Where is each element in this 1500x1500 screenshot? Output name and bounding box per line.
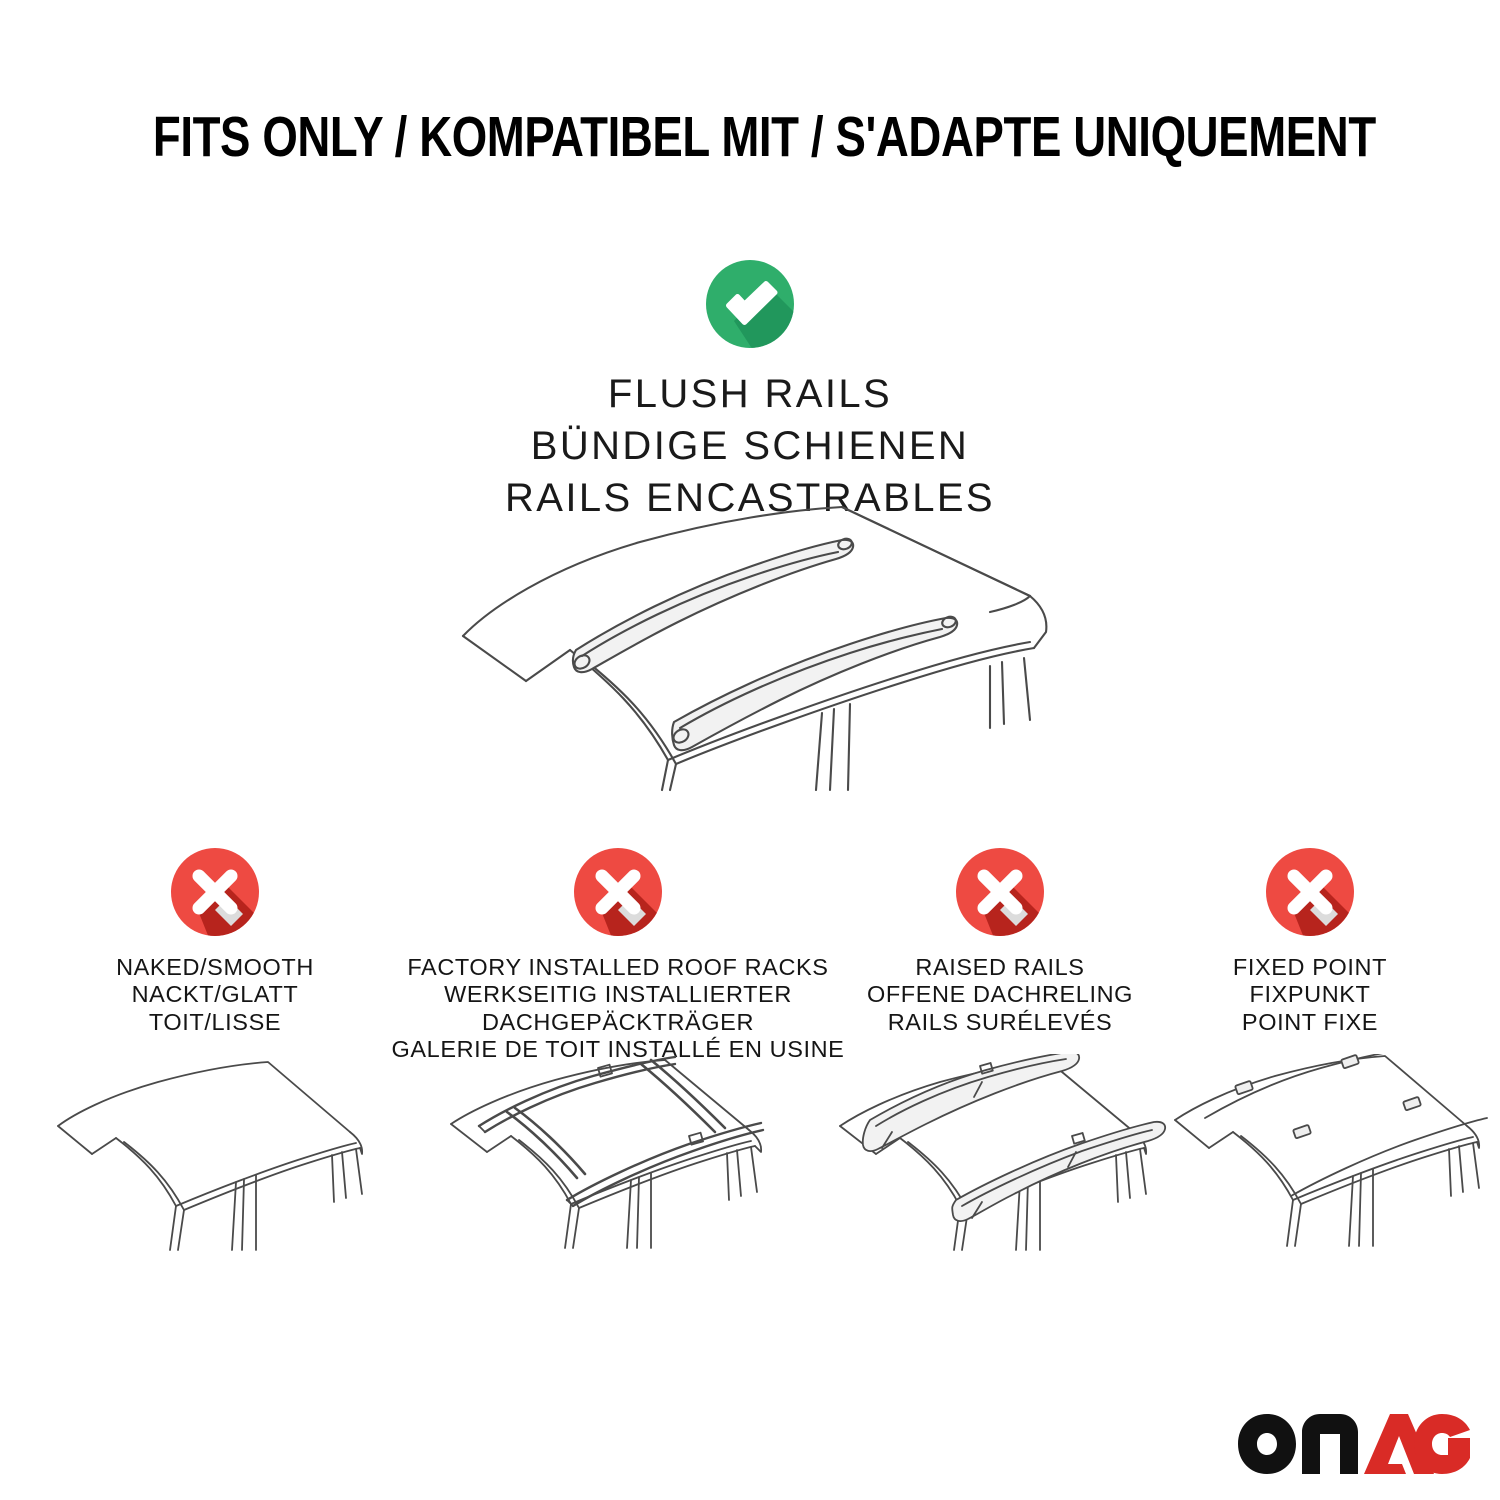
car-roof-naked-illustration <box>45 1054 385 1274</box>
label-line-de: FIXPUNKT <box>1165 981 1455 1008</box>
label-line-en: RAISED RAILS <box>830 954 1170 981</box>
cross-circle-icon <box>1264 846 1356 938</box>
incompatible-label-factory-roof-racks: FACTORY INSTALLED ROOF RACKS WERKSEITIG … <box>390 954 846 1063</box>
cross-circle-icon <box>954 846 1046 938</box>
incompatible-label-fixed-point: FIXED POINT FIXPUNKT POINT FIXE <box>1165 954 1455 1036</box>
cross-circle-icon <box>169 846 261 938</box>
label-line-fr: POINT FIXE <box>1165 1009 1455 1036</box>
label-line-de: NACKT/GLATT <box>45 981 385 1008</box>
infographic-page: FITS ONLY / KOMPATIBEL MIT / S'ADAPTE UN… <box>0 0 1500 1500</box>
cross-circle-icon <box>572 846 664 938</box>
compatible-section: FLUSH RAILS BÜNDIGE SCHIENEN RAILS ENCAS… <box>0 258 1500 524</box>
label-line-fr: RAILS SURÉLEVÉS <box>830 1009 1170 1036</box>
label-line-de: OFFENE DACHRELING <box>830 981 1170 1008</box>
cross-badge-wrap <box>45 846 385 946</box>
car-roof-fixed-point-illustration <box>1165 1054 1455 1274</box>
incompatible-column-naked-smooth: NAKED/SMOOTH NACKT/GLATT TOIT/LISSE <box>45 846 385 1036</box>
label-line-fr: TOIT/LISSE <box>45 1009 385 1036</box>
label-line-de-1: WERKSEITIG INSTALLIERTER <box>390 981 846 1008</box>
incompatible-label-naked-smooth: NAKED/SMOOTH NACKT/GLATT TOIT/LISSE <box>45 954 385 1036</box>
car-roof-with-flush-rails-illustration <box>430 498 1070 798</box>
incompatible-column-raised-rails: RAISED RAILS OFFENE DACHRELING RAILS SUR… <box>830 846 1170 1036</box>
label-line-en: NAKED/SMOOTH <box>45 954 385 981</box>
cross-badge-wrap <box>1165 846 1455 946</box>
page-title: FITS ONLY / KOMPATIBEL MIT / S'ADAPTE UN… <box>0 104 1500 170</box>
page-title-text: FITS ONLY / KOMPATIBEL MIT / S'ADAPTE UN… <box>153 104 1376 170</box>
check-circle-icon <box>704 258 796 350</box>
omac-logo <box>1236 1412 1472 1478</box>
label-line-en: FIXED POINT <box>1165 954 1455 981</box>
label-line-de-2: DACHGEPÄCKTRÄGER <box>390 1009 846 1036</box>
compatible-line-en: FLUSH RAILS <box>0 368 1500 420</box>
car-roof-with-factory-roof-racks-illustration <box>390 1054 846 1274</box>
incompatible-sections: NAKED/SMOOTH NACKT/GLATT TOIT/LISSE <box>0 846 1500 1296</box>
cross-badge-wrap <box>830 846 1170 946</box>
incompatible-label-raised-rails: RAISED RAILS OFFENE DACHRELING RAILS SUR… <box>830 954 1170 1036</box>
incompatible-column-fixed-point: FIXED POINT FIXPUNKT POINT FIXE <box>1165 846 1455 1036</box>
compatible-line-de: BÜNDIGE SCHIENEN <box>0 420 1500 472</box>
car-roof-with-raised-rails-illustration <box>830 1054 1170 1274</box>
cross-badge-wrap <box>390 846 846 946</box>
incompatible-column-factory-roof-racks: FACTORY INSTALLED ROOF RACKS WERKSEITIG … <box>390 846 846 1063</box>
label-line-en: FACTORY INSTALLED ROOF RACKS <box>390 954 846 981</box>
